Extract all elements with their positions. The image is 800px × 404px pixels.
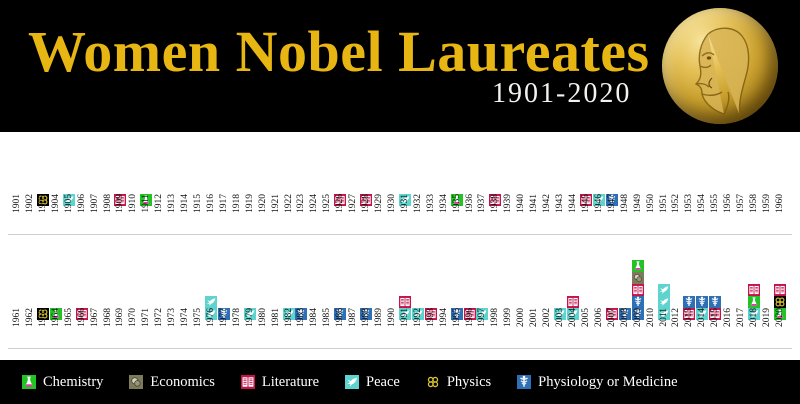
year-label: 1948 bbox=[619, 194, 631, 213]
year-label: 2018 bbox=[748, 308, 760, 327]
year-label: 2010 bbox=[645, 308, 657, 327]
year-label: 1908 bbox=[102, 194, 114, 213]
legend-item-literature[interactable]: Literature bbox=[241, 374, 319, 391]
year-label: 1962 bbox=[24, 308, 36, 327]
page-title: Women Nobel Laureates bbox=[28, 18, 650, 85]
year-label: 1961 bbox=[11, 308, 23, 327]
year-label: 1925 bbox=[321, 194, 333, 213]
year-label: 2004 bbox=[567, 308, 579, 327]
year-label: 1986 bbox=[334, 308, 346, 327]
year-label: 1995 bbox=[451, 308, 463, 327]
year-label: 1918 bbox=[231, 194, 243, 213]
year-label: 1926 bbox=[334, 194, 346, 213]
year-label: 2019 bbox=[761, 308, 773, 327]
chemistry-laureate-icon bbox=[748, 296, 760, 308]
year-label: 1922 bbox=[283, 194, 295, 213]
year-label: 2013 bbox=[683, 308, 695, 327]
year-label: 1991 bbox=[399, 308, 411, 327]
legend-label: Physiology or Medicine bbox=[538, 374, 677, 391]
book-icon bbox=[241, 375, 255, 389]
axis-line-row-2 bbox=[8, 348, 792, 349]
year-label: 1950 bbox=[645, 194, 657, 213]
legend: ChemistryEconomicsLiteraturePeacePhysics… bbox=[0, 360, 800, 404]
year-label: 2000 bbox=[515, 308, 527, 327]
peace-laureate-icon bbox=[205, 296, 217, 308]
year-label: 1901 bbox=[11, 194, 23, 213]
year-label: 1940 bbox=[515, 194, 527, 213]
year-label: 1988 bbox=[360, 308, 372, 327]
year-label: 2015 bbox=[709, 308, 721, 327]
year-label: 1920 bbox=[257, 194, 269, 213]
legend-label: Economics bbox=[150, 374, 214, 391]
axis-line-row-1 bbox=[8, 234, 792, 235]
literature-laureate-icon bbox=[567, 296, 579, 308]
year-label: 1931 bbox=[399, 194, 411, 213]
year-label: 1923 bbox=[295, 194, 307, 213]
year-label: 1955 bbox=[709, 194, 721, 213]
year-label: 1917 bbox=[218, 194, 230, 213]
year-label: 1963 bbox=[37, 308, 49, 327]
year-label: 1902 bbox=[24, 194, 36, 213]
year-label: 1924 bbox=[308, 194, 320, 213]
year-label: 1939 bbox=[502, 194, 514, 213]
physics-laureate-icon bbox=[774, 296, 786, 308]
year-label: 1983 bbox=[295, 308, 307, 327]
year-label: 1930 bbox=[386, 194, 398, 213]
year-label: 1943 bbox=[554, 194, 566, 213]
year-label: 1910 bbox=[127, 194, 139, 213]
year-label: 2016 bbox=[722, 308, 734, 327]
year-label: 1996 bbox=[464, 308, 476, 327]
chemistry-laureate-icon bbox=[632, 260, 644, 272]
year-label: 1929 bbox=[373, 194, 385, 213]
legend-item-chemistry[interactable]: Chemistry bbox=[22, 374, 103, 391]
year-label: 1984 bbox=[308, 308, 320, 327]
alfred-nobel-profile-icon bbox=[678, 18, 770, 118]
year-label: 1994 bbox=[438, 308, 450, 327]
year-label: 1947 bbox=[606, 194, 618, 213]
year-label: 1941 bbox=[528, 194, 540, 213]
year-label: 2014 bbox=[696, 308, 708, 327]
year-label: 1914 bbox=[179, 194, 191, 213]
legend-item-economics[interactable]: Economics bbox=[129, 374, 214, 391]
year-label: 1989 bbox=[373, 308, 385, 327]
year-label: 1946 bbox=[593, 194, 605, 213]
year-label: 2005 bbox=[580, 308, 592, 327]
year-label: 1932 bbox=[412, 194, 424, 213]
year-label: 1968 bbox=[102, 308, 114, 327]
year-label: 1976 bbox=[205, 308, 217, 327]
year-label: 1927 bbox=[347, 194, 359, 213]
year-label: 1949 bbox=[632, 194, 644, 213]
year-label: 2003 bbox=[554, 308, 566, 327]
economics-laureate-icon bbox=[632, 272, 644, 284]
year-label: 2001 bbox=[528, 308, 540, 327]
year-label: 1934 bbox=[438, 194, 450, 213]
year-label: 1916 bbox=[205, 194, 217, 213]
year-label: 1990 bbox=[386, 308, 398, 327]
year-label: 1928 bbox=[360, 194, 372, 213]
year-label: 1953 bbox=[683, 194, 695, 213]
year-label: 1985 bbox=[321, 308, 333, 327]
year-label: 1998 bbox=[489, 308, 501, 327]
year-label: 1952 bbox=[670, 194, 682, 213]
legend-label: Chemistry bbox=[43, 374, 103, 391]
medicine-laureate-icon bbox=[632, 296, 644, 308]
peace-laureate-icon bbox=[658, 296, 670, 308]
infographic-root: Women Nobel Laureates 1901-2020 1 bbox=[0, 0, 800, 404]
year-label: 1971 bbox=[140, 308, 152, 327]
year-label: 1905 bbox=[63, 194, 75, 213]
year-label: 2009 bbox=[632, 308, 644, 327]
header-banner: Women Nobel Laureates 1901-2020 bbox=[0, 0, 800, 132]
literature-laureate-icon bbox=[748, 284, 760, 296]
year-label: 1975 bbox=[192, 308, 204, 327]
year-label: 1907 bbox=[89, 194, 101, 213]
year-label: 1956 bbox=[722, 194, 734, 213]
year-label: 1912 bbox=[153, 194, 165, 213]
legend-label: Peace bbox=[366, 374, 400, 391]
year-label: 1982 bbox=[283, 308, 295, 327]
coin-icon bbox=[129, 375, 143, 389]
year-label: 1997 bbox=[476, 308, 488, 327]
year-label: 1915 bbox=[192, 194, 204, 213]
year-label: 1958 bbox=[748, 194, 760, 213]
legend-label: Physics bbox=[447, 374, 491, 391]
year-label: 1903 bbox=[37, 194, 49, 213]
year-label: 1992 bbox=[412, 308, 424, 327]
year-label: 1942 bbox=[541, 194, 553, 213]
year-label: 1974 bbox=[179, 308, 191, 327]
legend-item-medicine[interactable]: Physiology or Medicine bbox=[517, 374, 677, 391]
literature-laureate-icon bbox=[774, 284, 786, 296]
year-label: 1969 bbox=[114, 308, 126, 327]
year-label: 1936 bbox=[464, 194, 476, 213]
timeline-chart: 1901190219031904190519061907190819091910… bbox=[0, 132, 800, 360]
year-label: 1944 bbox=[567, 194, 579, 213]
year-label: 1904 bbox=[50, 194, 62, 213]
year-label: 1959 bbox=[761, 194, 773, 213]
medicine-laureate-icon bbox=[683, 296, 695, 308]
year-label: 1909 bbox=[114, 194, 126, 213]
year-label: 1966 bbox=[76, 308, 88, 327]
literature-laureate-icon bbox=[399, 296, 411, 308]
year-label: 1979 bbox=[244, 308, 256, 327]
medicine-laureate-icon bbox=[696, 296, 708, 308]
year-label: 1980 bbox=[257, 308, 269, 327]
year-label: 2020 bbox=[774, 308, 786, 327]
legend-item-peace[interactable]: Peace bbox=[345, 374, 400, 391]
year-label: 1972 bbox=[153, 308, 165, 327]
caduceus-icon bbox=[517, 375, 531, 389]
year-label: 1977 bbox=[218, 308, 230, 327]
atom-icon bbox=[426, 375, 440, 389]
year-label: 1967 bbox=[89, 308, 101, 327]
year-label: 1945 bbox=[580, 194, 592, 213]
year-label: 2002 bbox=[541, 308, 553, 327]
year-label: 1970 bbox=[127, 308, 139, 327]
peace-laureate-icon bbox=[658, 284, 670, 296]
year-label: 1933 bbox=[425, 194, 437, 213]
year-label: 1957 bbox=[735, 194, 747, 213]
medicine-laureate-icon bbox=[709, 296, 721, 308]
year-label: 1987 bbox=[347, 308, 359, 327]
literature-laureate-icon bbox=[632, 284, 644, 296]
year-label: 1978 bbox=[231, 308, 243, 327]
year-label: 2017 bbox=[735, 308, 747, 327]
year-label: 1965 bbox=[63, 308, 75, 327]
year-label: 2006 bbox=[593, 308, 605, 327]
dove-icon bbox=[345, 375, 359, 389]
year-label: 1973 bbox=[166, 308, 178, 327]
year-label: 1981 bbox=[270, 308, 282, 327]
year-label: 1906 bbox=[76, 194, 88, 213]
flask-icon bbox=[22, 375, 36, 389]
year-label: 1937 bbox=[476, 194, 488, 213]
nobel-medal-portrait-icon bbox=[662, 8, 778, 124]
year-label: 1951 bbox=[658, 194, 670, 213]
timeline-row-1901-1960: 1901190219031904190519061907190819091910… bbox=[0, 132, 800, 246]
year-label: 1921 bbox=[270, 194, 282, 213]
year-label: 1938 bbox=[489, 194, 501, 213]
legend-label: Literature bbox=[262, 374, 319, 391]
timeline-row-1961-2020: 1961196219631964196519661967196819691970… bbox=[0, 246, 800, 360]
year-label: 1919 bbox=[244, 194, 256, 213]
year-label: 1964 bbox=[50, 308, 62, 327]
year-label: 2007 bbox=[606, 308, 618, 327]
year-label: 1935 bbox=[451, 194, 463, 213]
year-label: 2008 bbox=[619, 308, 631, 327]
year-label: 1999 bbox=[502, 308, 514, 327]
year-label: 1954 bbox=[696, 194, 708, 213]
year-label: 2011 bbox=[658, 308, 670, 327]
page-subtitle: 1901-2020 bbox=[492, 78, 631, 110]
year-label: 1993 bbox=[425, 308, 437, 327]
year-label: 1960 bbox=[774, 194, 786, 213]
year-label: 2012 bbox=[670, 308, 682, 327]
legend-item-physics[interactable]: Physics bbox=[426, 374, 491, 391]
year-label: 1913 bbox=[166, 194, 178, 213]
year-label: 1911 bbox=[140, 194, 152, 213]
